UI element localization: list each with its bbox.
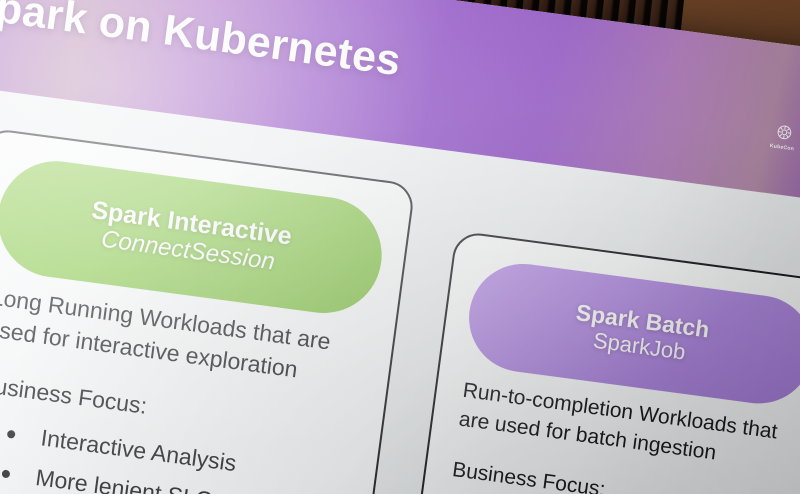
photo-of-projected-slide: Spark on Kubernetes KubeCon [0,0,800,494]
conference-logos: KubeCon CloudNativeCon China 2024 [758,120,800,168]
kubecon-logo: KubeCon [759,120,800,154]
kubecon-logo-label: KubeCon [769,143,794,153]
projection-screen: Spark on Kubernetes KubeCon [0,0,800,494]
card-body: Long Running Workloads that are used for… [0,282,372,494]
kubecon-helm-icon [773,122,794,143]
card-spark-interactive: Spark Interactive ConnectSession Long Ru… [0,127,416,494]
page-title: Spark on Kubernetes [0,0,403,86]
card-spark-batch: Spark Batch SparkJob Run-to-completion W… [405,230,800,494]
slide-surface: Spark on Kubernetes KubeCon [0,0,800,494]
